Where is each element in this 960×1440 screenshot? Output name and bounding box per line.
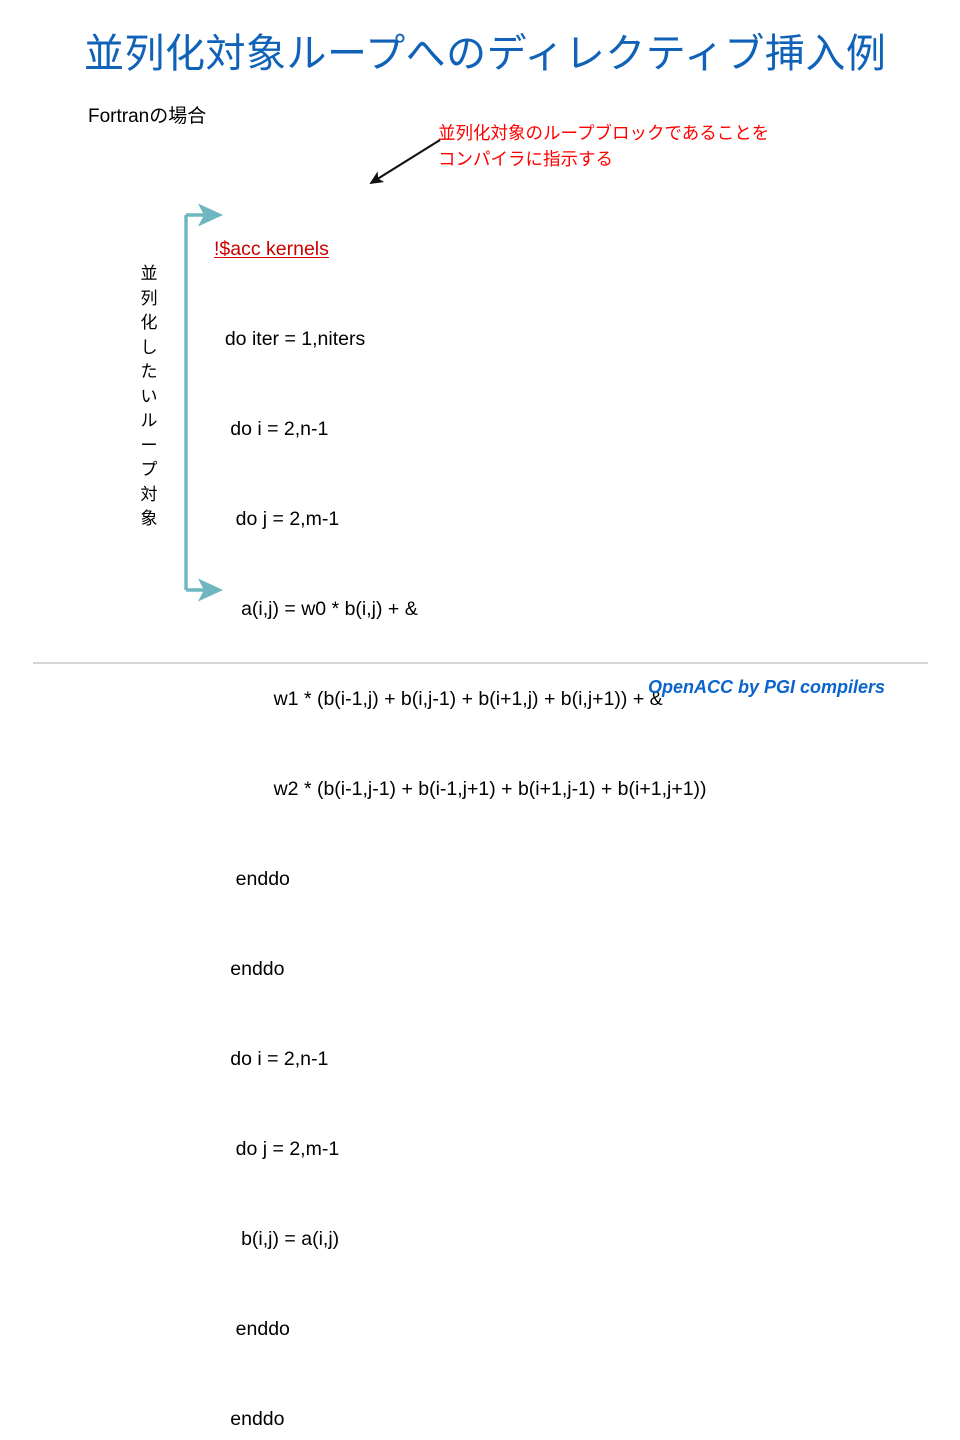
vertical-label-char: 象 [134, 507, 164, 532]
annotation-callout: 並列化対象のループブロックであることを コンパイラに指示する [438, 120, 868, 172]
page-title: 並列化対象ループへのディレクティブ挿入例 [84, 28, 904, 80]
vertical-label-char: い [134, 385, 164, 410]
code-line: b(i,j) = a(i,j) [214, 1224, 707, 1254]
code-line: do iter = 1,niters [214, 324, 707, 354]
vertical-loop-label: 並 列 化 し た い ル ー プ 対 象 [134, 262, 164, 532]
vertical-label-char: プ [134, 458, 164, 483]
vertical-label-char: 並 [134, 262, 164, 287]
vertical-label-char: し [134, 336, 164, 361]
footer-divider [33, 662, 928, 664]
code-line: do j = 2,m-1 [214, 1134, 707, 1164]
code-line: do i = 2,n-1 [214, 1044, 707, 1074]
code-block: !$acc kernels do iter = 1,niters do i = … [214, 174, 707, 1440]
code-line: enddo [214, 954, 707, 984]
slide-canvas: 並列化対象ループへのディレクティブ挿入例 Fortranの場合 並列化対象のルー… [0, 0, 960, 720]
vertical-label-char: ル [134, 409, 164, 434]
code-line: do j = 2,m-1 [214, 504, 707, 534]
vertical-label-char: ー [134, 434, 164, 459]
vertical-label-char: 化 [134, 311, 164, 336]
code-line: enddo [214, 864, 707, 894]
annotation-line-1: 並列化対象のループブロックであることを [438, 120, 868, 146]
code-line: a(i,j) = w0 * b(i,j) + & [214, 594, 707, 624]
vertical-label-char: た [134, 360, 164, 385]
code-line: w2 * (b(i-1,j-1) + b(i-1,j+1) + b(i+1,j-… [214, 774, 707, 804]
vertical-label-char: 列 [134, 287, 164, 312]
code-line: w1 * (b(i-1,j) + b(i,j-1) + b(i+1,j) + b… [214, 684, 707, 714]
subtitle-label: Fortranの場合 [88, 104, 206, 130]
code-line: do i = 2,n-1 [214, 414, 707, 444]
code-line: enddo [214, 1404, 707, 1434]
code-line-directive-start: !$acc kernels [214, 234, 707, 264]
footer-label: OpenACC by PGI compilers [648, 677, 885, 698]
annotation-line-2: コンパイラに指示する [438, 146, 868, 172]
vertical-label-char: 対 [134, 483, 164, 508]
code-line: enddo [214, 1314, 707, 1344]
